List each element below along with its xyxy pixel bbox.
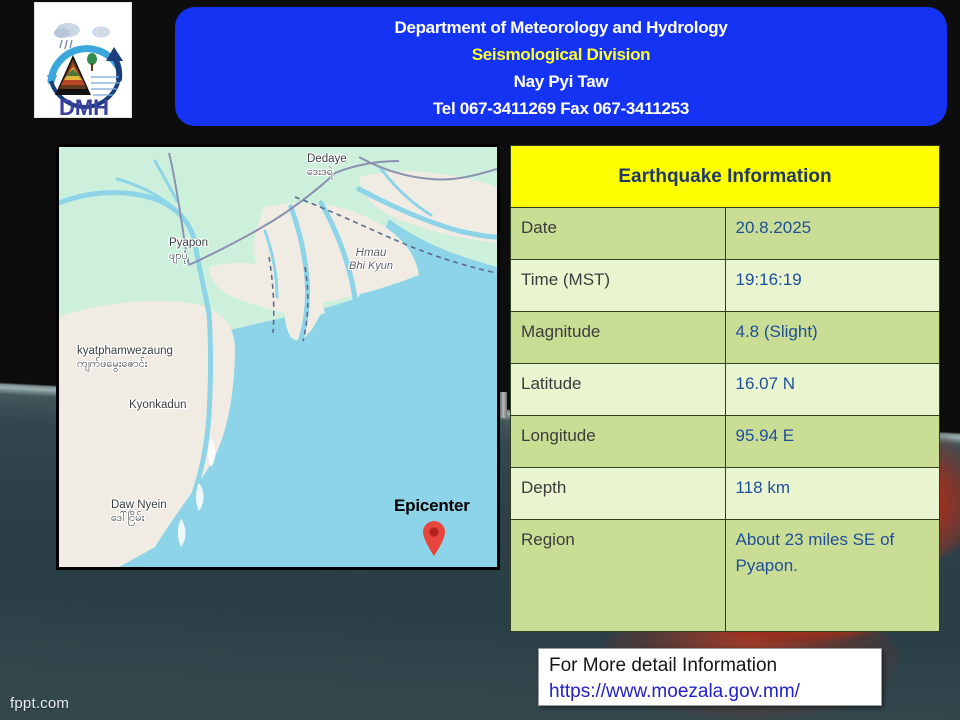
epicenter-text-label: Epicenter (394, 496, 470, 516)
map-scrollbar-thumb[interactable] (500, 392, 507, 418)
row-value-region: About 23 miles SE of Pyapon. (725, 520, 940, 632)
dmh-logo: DMH (34, 2, 132, 118)
row-label-latitude: Latitude (511, 364, 726, 416)
table-row-date: Date 20.8.2025 (511, 208, 940, 260)
header-banner: Department of Meteorology and Hydrology … (175, 7, 947, 126)
row-value-depth: 118 km (725, 468, 940, 520)
table-row-region: Region About 23 miles SE of Pyapon. (511, 520, 940, 632)
more-info-url[interactable]: https://www.moezala.gov.mm/ (549, 679, 871, 705)
table-title-row: Earthquake Information (511, 146, 940, 208)
table-row-longitude: Longitude 95.94 E (511, 416, 940, 468)
more-info-box: For More detail Information https://www.… (538, 648, 882, 706)
header-line-4: Tel 067-3411269 Fax 067-3411253 (175, 95, 947, 122)
row-value-magnitude: 4.8 (Slight) (725, 312, 940, 364)
row-value-time: 19:16:19 (725, 260, 940, 312)
fppt-watermark: fppt.com (10, 695, 69, 712)
slide-canvas: fppt.com (0, 0, 960, 720)
row-value-latitude: 16.07 N (725, 364, 940, 416)
header-line-1: Department of Meteorology and Hydrology (175, 14, 947, 41)
table-row-depth: Depth 118 km (511, 468, 940, 520)
row-label-depth: Depth (511, 468, 726, 520)
more-info-text: For More detail Information (549, 653, 871, 679)
row-value-longitude: 95.94 E (725, 416, 940, 468)
row-value-date: 20.8.2025 (725, 208, 940, 260)
epicenter-map-pin-icon (421, 519, 447, 557)
header-line-2: Seismological Division (175, 41, 947, 68)
row-label-date: Date (511, 208, 726, 260)
row-label-region: Region (511, 520, 726, 632)
row-label-time: Time (MST) (511, 260, 726, 312)
table-row-time: Time (MST) 19:16:19 (511, 260, 940, 312)
earthquake-info-table: Earthquake Information Date 20.8.2025 Ti… (510, 145, 940, 632)
table-row-latitude: Latitude 16.07 N (511, 364, 940, 416)
row-label-longitude: Longitude (511, 416, 726, 468)
table-title: Earthquake Information (511, 146, 940, 208)
row-label-magnitude: Magnitude (511, 312, 726, 364)
dmh-logo-icon: DMH (35, 3, 132, 118)
epicenter-map[interactable]: Dedaye ဒေးဒရဲ Pyapon ဖျာပုံ Hmau Bhi Kyu… (56, 144, 500, 570)
dmh-logo-text: DMH (59, 95, 109, 118)
header-line-3: Nay Pyi Taw (175, 68, 947, 95)
table-row-magnitude: Magnitude 4.8 (Slight) (511, 312, 940, 364)
